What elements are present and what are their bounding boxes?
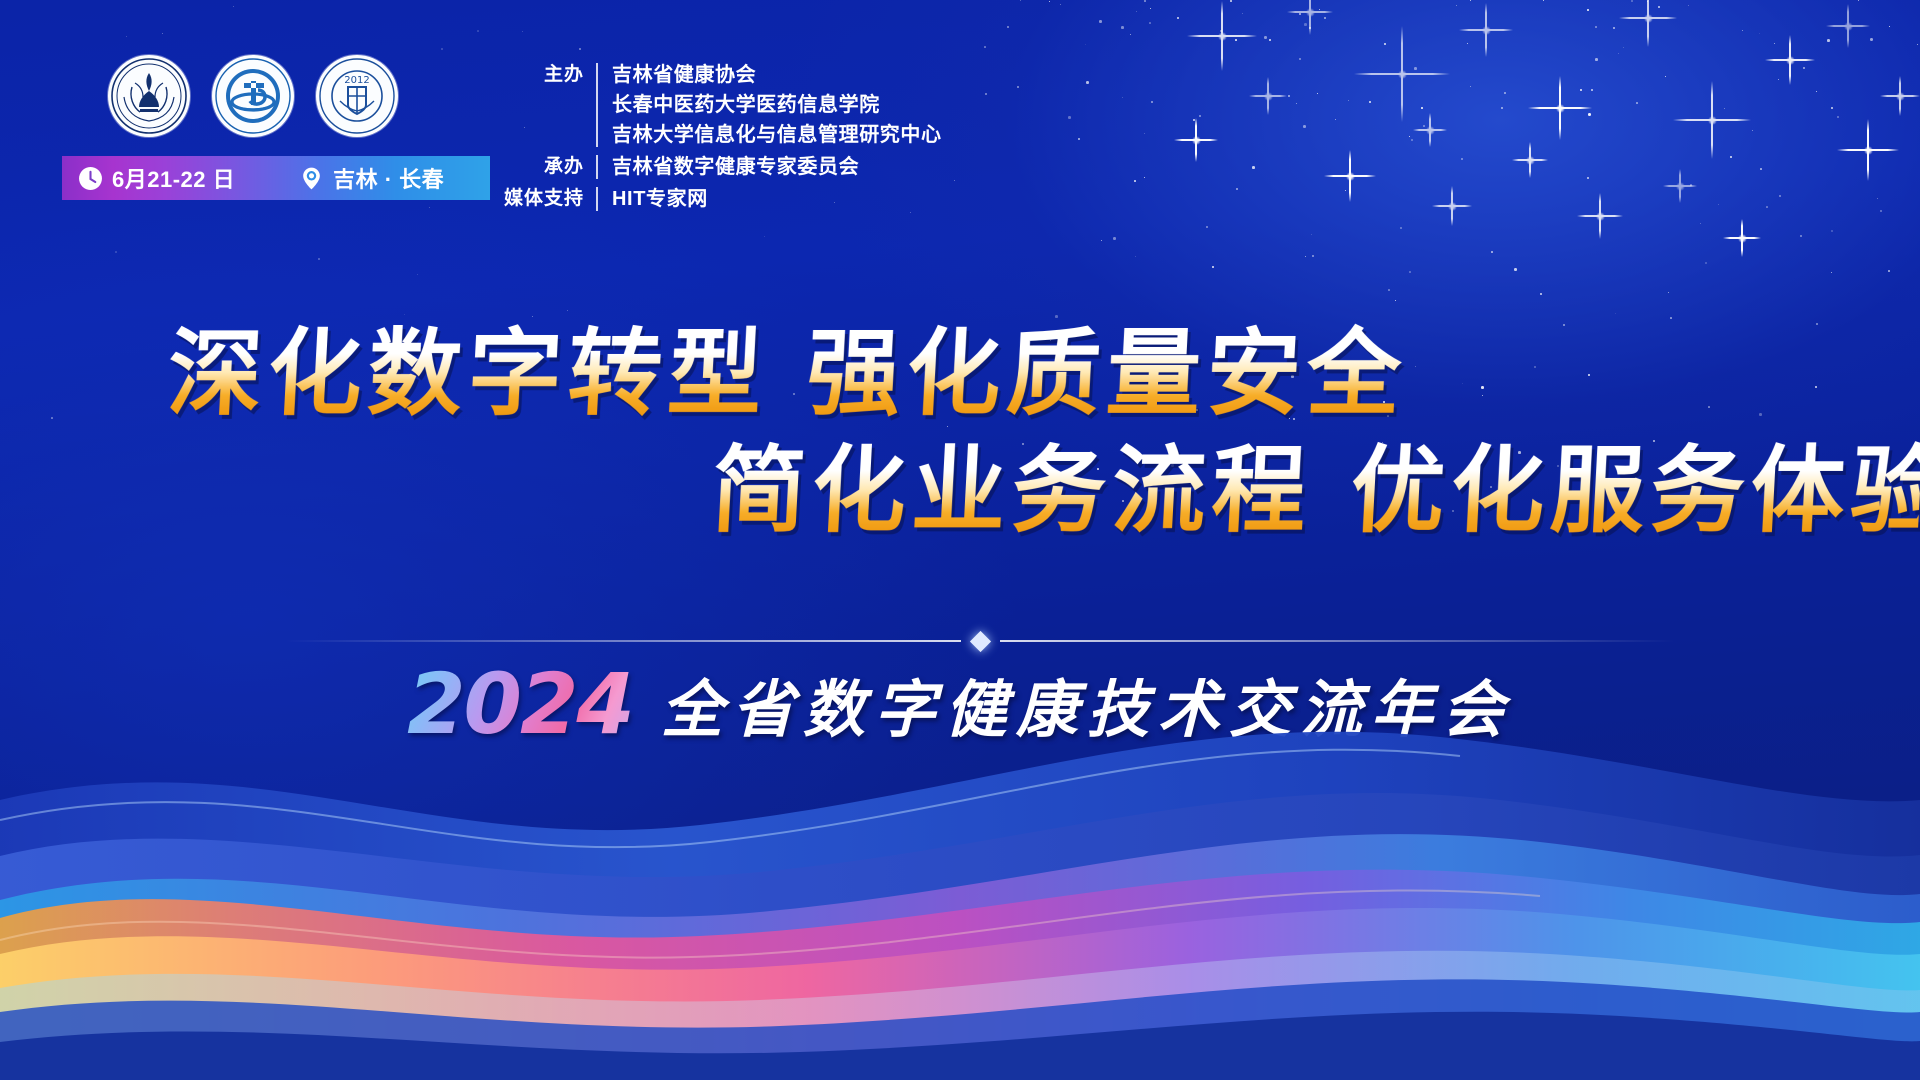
organizer-label: 媒体支持 xyxy=(492,184,584,214)
organizer-info-block: 主办 吉林省健康协会 长春中医药大学医药信息学院 吉林大学信息化与信息管理研究中… xyxy=(492,60,942,214)
headline-line-2: 简化业务流程 优化服务体验 xyxy=(0,439,1920,544)
sparkle-star-icon xyxy=(1880,76,1920,116)
location-text: 吉林 · 长春 xyxy=(333,162,444,194)
sparkle-star-icon xyxy=(1287,0,1333,35)
sparkle-star-icon xyxy=(1459,3,1513,57)
organizer-row-co-host: 承办 吉林省数字健康专家委员会 xyxy=(492,152,942,182)
sparkle-star-icon xyxy=(1324,150,1376,202)
svg-text:2012: 2012 xyxy=(344,75,369,86)
divider-line-right xyxy=(1000,640,1676,642)
organizer-row-host: 主办 吉林省健康协会 长春中医药大学医药信息学院 吉林大学信息化与信息管理研究中… xyxy=(492,60,942,150)
organizer-values: 吉林省健康协会 长春中医药大学医药信息学院 吉林大学信息化与信息管理研究中心 xyxy=(612,60,942,150)
logo-jilin-health-association xyxy=(108,55,190,137)
ornamental-divider xyxy=(285,630,1675,652)
organizer-label: 主办 xyxy=(492,60,584,90)
location-item: 吉林 · 长春 xyxy=(299,162,444,194)
organizer-value: 长春中医药大学医药信息学院 xyxy=(612,90,942,120)
sparkle-star-icon xyxy=(1619,0,1677,47)
sparkle-star-icon xyxy=(1432,186,1472,226)
organizer-value: 吉林省数字健康专家委员会 xyxy=(612,152,859,182)
sparkle-star-icon xyxy=(1826,4,1870,48)
date-location-bar: 6月21-22 日 吉林 · 长春 xyxy=(62,156,490,200)
clock-icon xyxy=(78,166,103,191)
sparkle-star-icon xyxy=(1413,113,1447,147)
sparkle-star-icon xyxy=(1673,81,1751,159)
organizer-row-media: 媒体支持 HIT专家网 xyxy=(492,184,942,214)
sparkle-star-icon xyxy=(1187,1,1257,71)
wave-decoration xyxy=(0,650,1920,1080)
date-item: 6月21-22 日 xyxy=(78,162,235,194)
organizer-values: HIT专家网 xyxy=(612,184,708,214)
location-pin-icon xyxy=(299,166,324,191)
headline-block: 深化数字转型 强化质量安全 简化业务流程 优化服务体验 xyxy=(0,322,1920,545)
sparkle-star-icon xyxy=(1174,118,1218,162)
organizer-divider xyxy=(596,155,598,179)
sparkle-star-icon xyxy=(1577,193,1623,239)
organizer-value: HIT专家网 xyxy=(612,184,708,214)
sparkle-star-icon xyxy=(1512,142,1548,178)
sparkle-star-icon xyxy=(1528,76,1592,140)
organizer-divider xyxy=(596,63,598,147)
diamond-icon xyxy=(969,630,990,651)
logo-changchun-medical-information xyxy=(212,55,294,137)
sparkle-star-icon xyxy=(1765,35,1815,85)
organizer-label: 承办 xyxy=(492,152,584,182)
organizer-logo-group: 2012 xyxy=(108,55,398,137)
sparkle-star-icon xyxy=(1354,26,1450,122)
logo-jilin-university-research-center: 2012 xyxy=(316,55,398,137)
sparkle-star-icon xyxy=(1723,219,1761,257)
organizer-value: 吉林大学信息化与信息管理研究中心 xyxy=(612,120,942,150)
organizer-values: 吉林省数字健康专家委员会 xyxy=(612,152,859,182)
headline-line-1: 深化数字转型 强化质量安全 xyxy=(0,322,1920,427)
date-text: 6月21-22 日 xyxy=(112,162,235,194)
sparkle-star-icon xyxy=(1663,169,1697,203)
divider-line-left xyxy=(285,640,961,642)
sparkle-star-icon xyxy=(1837,119,1899,181)
conference-poster: 2012 6月21-22 日 吉林 · 长春 主办 xyxy=(0,0,1920,1080)
organizer-divider xyxy=(596,187,598,211)
sparkle-star-icon xyxy=(1249,77,1287,115)
organizer-value: 吉林省健康协会 xyxy=(612,60,942,90)
